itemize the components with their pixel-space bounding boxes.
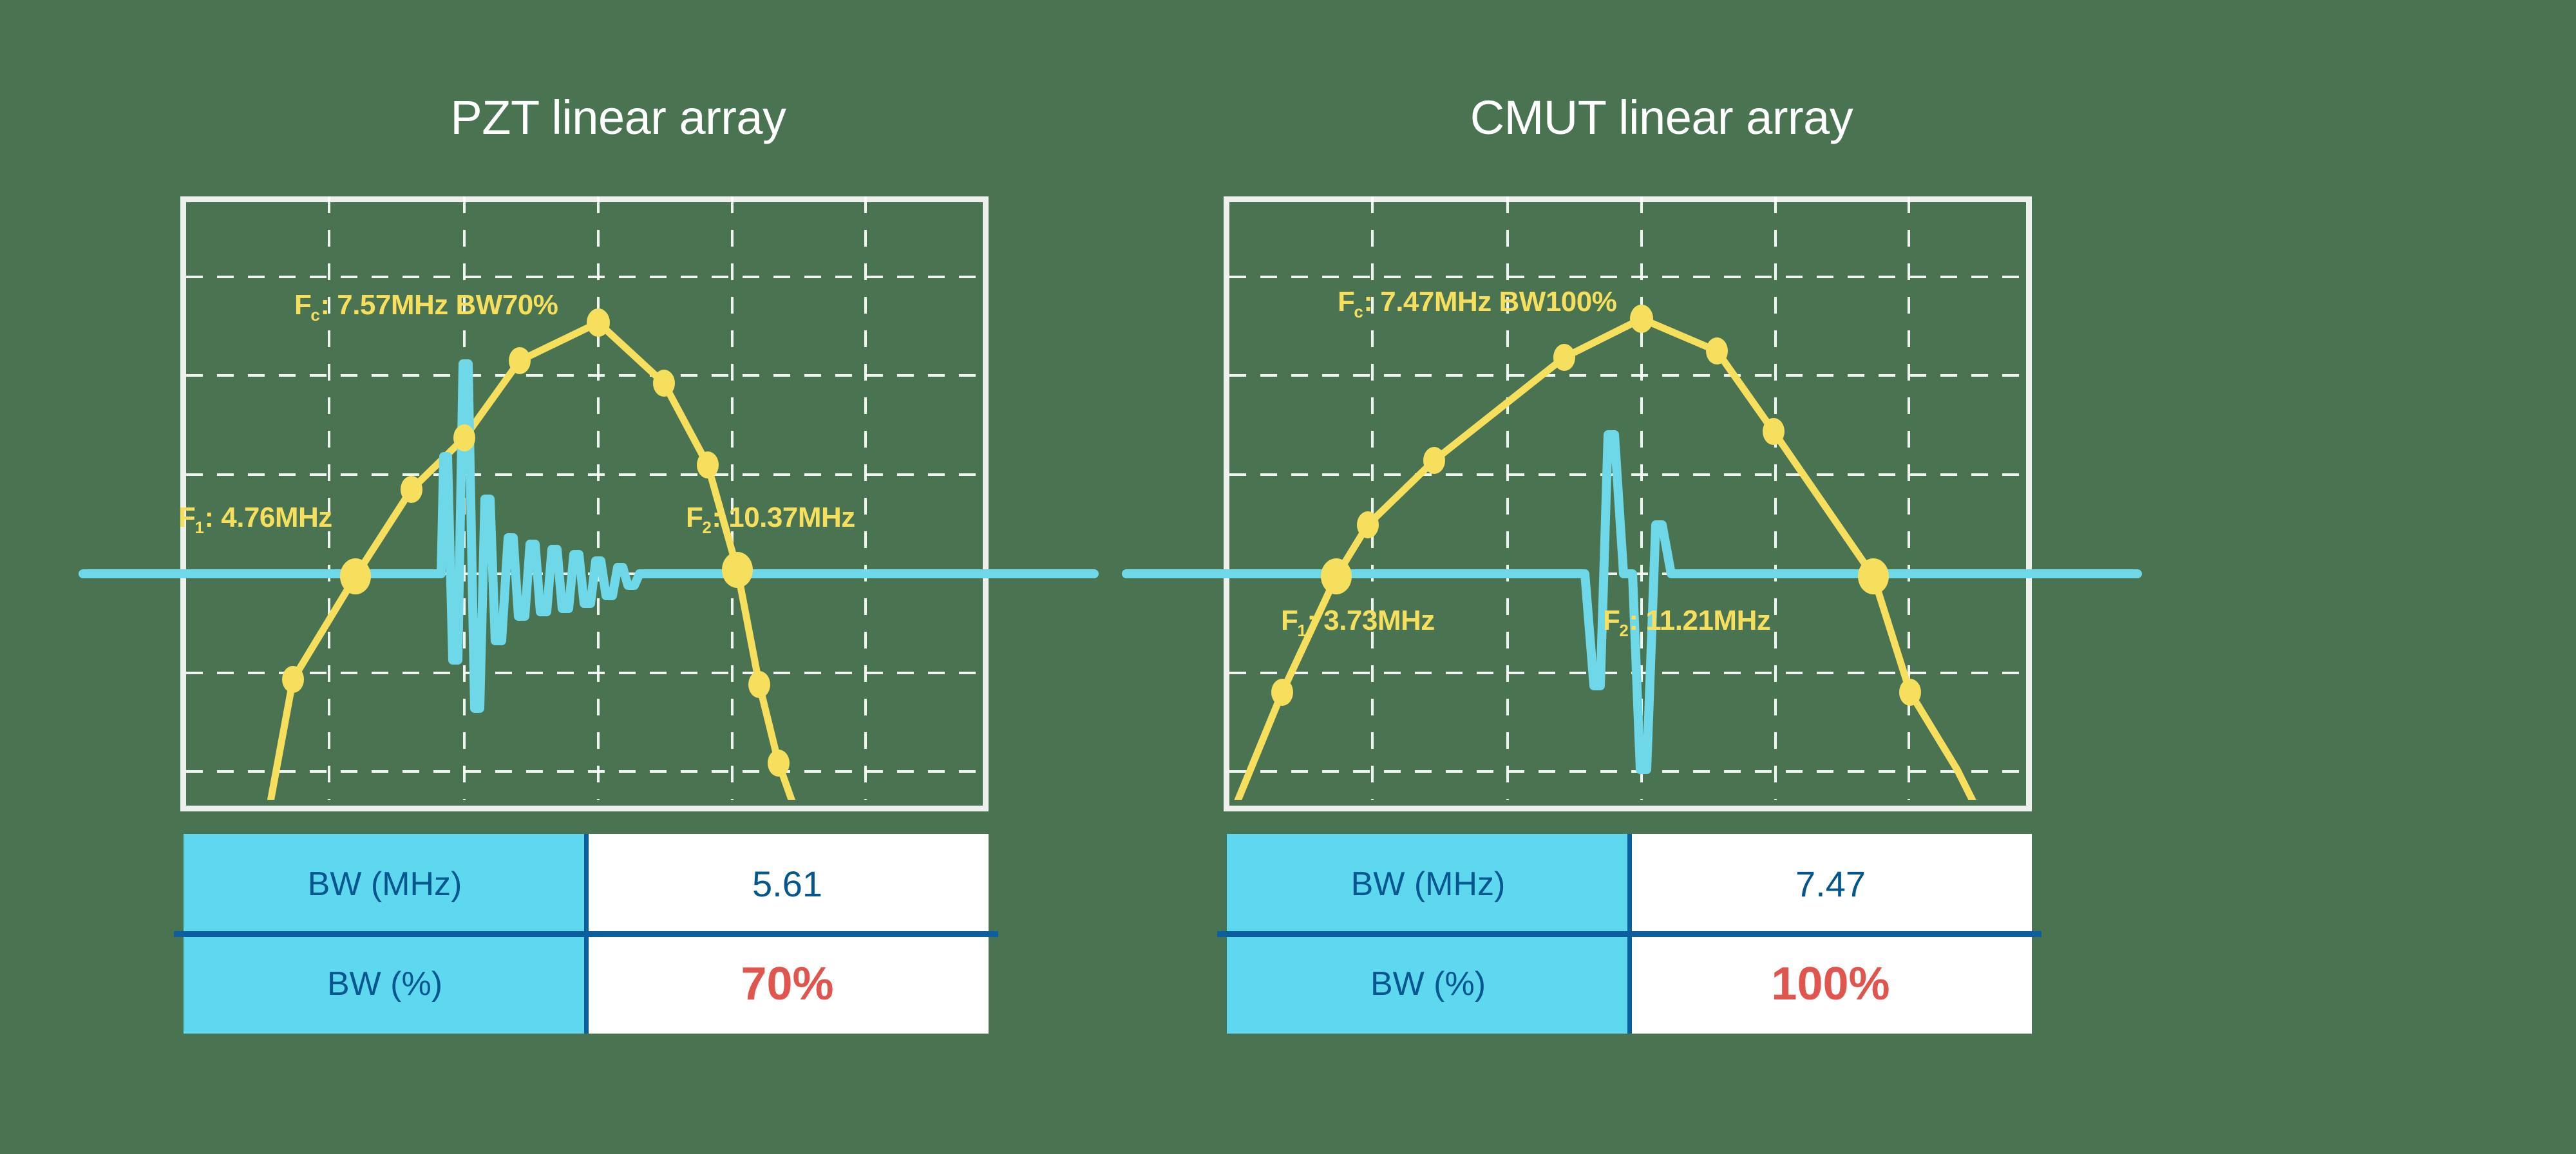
plot-frame-pzt: Fc: 7.57MHz BW70% F1: 4.76MHz F2: 10.37M… (180, 196, 989, 811)
table-cell-label: BW (MHz) (1227, 834, 1629, 934)
table-cell-value: 100% (1629, 934, 2032, 1034)
f1-subscript-cmut: 1 (1297, 621, 1306, 640)
f2-subscript-cmut: 2 (1619, 621, 1628, 640)
table-cell-label: BW (%) (1227, 934, 1629, 1034)
f1-text-pzt: : 4.76MHz (204, 502, 332, 533)
page-title-cmut: CMUT linear array (1159, 90, 2164, 145)
annotation-f1-pzt: F1: 4.76MHz (178, 502, 332, 534)
annotation-fc-pzt: Fc: 7.57MHz BW70% (294, 289, 558, 321)
f1-text-cmut: : 3.73MHz (1307, 605, 1434, 636)
table-cell-value: 5.61 (586, 834, 989, 934)
fc-text-cmut: : 7.47MHz BW100% (1363, 286, 1616, 317)
plot-frame-cmut: Fc: 7.47MHz BW100% F1: 3.73MHz F2: 11.21… (1224, 196, 2032, 811)
fc-subscript-pzt: c (310, 305, 319, 325)
table-horizontal-divider (174, 931, 998, 937)
fc-text-pzt: : 7.57MHz BW70% (320, 289, 558, 321)
page-title-pzt: PZT linear array (116, 90, 1121, 145)
table-cell-value: 70% (586, 934, 989, 1034)
fc-subscript-cmut: c (1354, 302, 1363, 321)
table-cell-value: 7.47 (1629, 834, 2032, 934)
fc-symbol-pzt: F (294, 289, 311, 321)
f2-text-pzt: : 10.37MHz (712, 502, 855, 533)
panel-cmut: CMUT linear array (1159, 0, 2164, 1154)
f2-subscript-pzt: 2 (702, 518, 711, 537)
plot-inner-pzt: Fc: 7.57MHz BW70% F1: 4.76MHz F2: 10.37M… (186, 202, 983, 806)
table-cell-label: BW (%) (184, 934, 586, 1034)
bandwidth-table-pzt: BW (MHz) 5.61 BW (%) 70% (184, 834, 989, 1034)
impulse-response-cmut (1126, 435, 2137, 770)
table-horizontal-divider (1217, 931, 2041, 937)
grid-lines-pzt (186, 196, 983, 800)
comparison-figure: PZT linear array (0, 0, 2576, 1154)
f2-symbol-pzt: F (686, 502, 703, 533)
annotation-fc-cmut: Fc: 7.47MHz BW100% (1338, 286, 1616, 318)
annotation-f2-pzt: F2: 10.37MHz (686, 502, 855, 534)
panel-pzt: PZT linear array (116, 0, 1121, 1154)
f2-text-cmut: : 11.21MHz (1629, 605, 1770, 636)
plot-inner-cmut: Fc: 7.47MHz BW100% F1: 3.73MHz F2: 11.21… (1229, 202, 2026, 806)
f1-subscript-pzt: 1 (194, 518, 204, 537)
impulse-response-pzt (83, 364, 1094, 708)
annotation-f2-cmut: F2: 11.21MHz (1603, 605, 1770, 637)
table-cell-label: BW (MHz) (184, 834, 586, 934)
f1-symbol-pzt: F (178, 502, 195, 533)
spectrum-plot-cmut (1126, 196, 2137, 811)
annotation-f1-cmut: F1: 3.73MHz (1281, 605, 1435, 637)
bandwidth-table-cmut: BW (MHz) 7.47 BW (%) 100% (1227, 834, 2032, 1034)
f2-symbol-cmut: F (1603, 605, 1620, 636)
fc-symbol-cmut: F (1338, 286, 1354, 317)
f1-symbol-cmut: F (1281, 605, 1298, 636)
